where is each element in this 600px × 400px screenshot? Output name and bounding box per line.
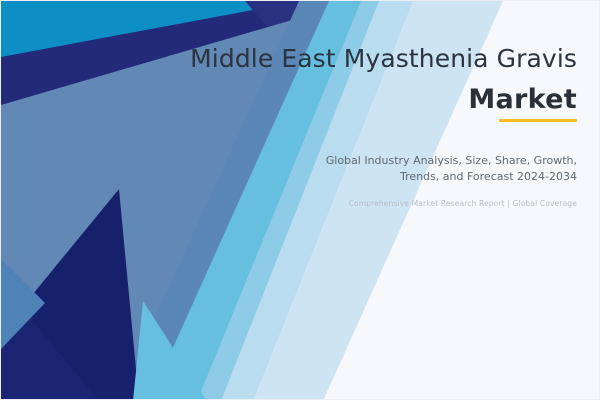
decorative-geometric-artwork	[1, 1, 600, 400]
report-cover: Middle East Myasthenia Gravis Market Glo…	[0, 0, 600, 400]
